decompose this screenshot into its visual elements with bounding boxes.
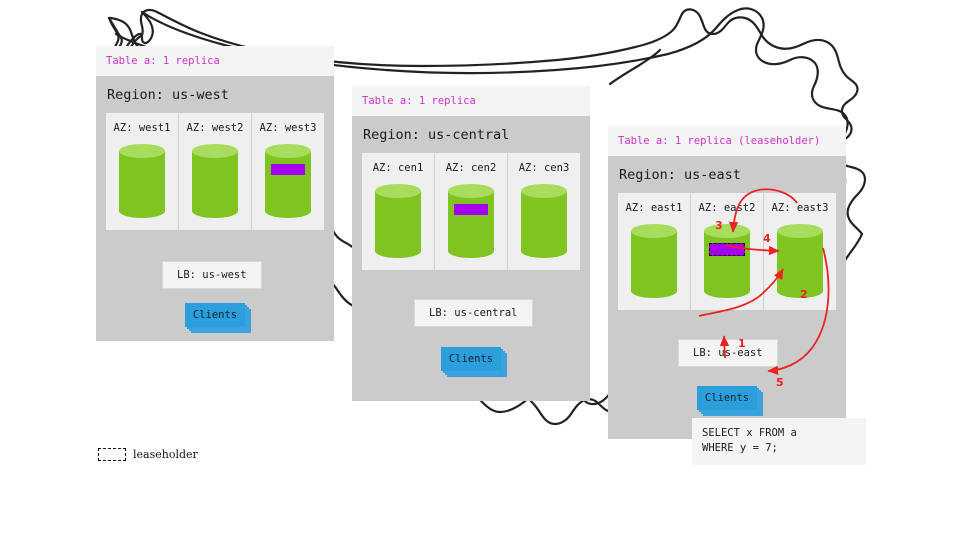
step-number-4: 4 bbox=[763, 232, 771, 245]
replica-marker-west3 bbox=[271, 164, 305, 175]
az-cell-west3[interactable]: AZ: west3 bbox=[252, 113, 324, 230]
cylinder-top bbox=[521, 184, 567, 198]
node-cylinder-west2[interactable] bbox=[192, 144, 238, 218]
cylinder-body bbox=[375, 191, 421, 251]
region-panel-us-east: Table a: 1 replica (leaseholder) Region:… bbox=[608, 126, 846, 439]
clients-label-us-east[interactable]: Clients bbox=[697, 386, 757, 410]
cylinder-top bbox=[777, 224, 823, 238]
node-cylinder-cen1[interactable] bbox=[375, 184, 421, 258]
az-cell-cen2[interactable]: AZ: cen2 bbox=[435, 153, 508, 270]
cylinder-body bbox=[192, 151, 238, 211]
cylinder-top bbox=[192, 144, 238, 158]
az-cell-west1[interactable]: AZ: west1 bbox=[106, 113, 179, 230]
cylinder-top bbox=[119, 144, 165, 158]
az-cell-cen3[interactable]: AZ: cen3 bbox=[508, 153, 580, 270]
az-row-us-central: AZ: cen1 AZ: cen2 bbox=[362, 153, 580, 270]
sql-query-box: SELECT x FROM a WHERE y = 7; bbox=[692, 418, 866, 465]
node-cylinder-east1[interactable] bbox=[631, 224, 677, 298]
lb-box-us-west[interactable]: LB: us-west bbox=[162, 261, 262, 289]
az-label-east2: AZ: east2 bbox=[691, 202, 763, 214]
clients-label-us-central[interactable]: Clients bbox=[441, 347, 501, 371]
clients-stack-us-central[interactable]: Clients bbox=[441, 347, 501, 371]
az-cell-west2[interactable]: AZ: west2 bbox=[179, 113, 252, 230]
step-number-1: 1 bbox=[738, 337, 746, 350]
az-label-west2: AZ: west2 bbox=[179, 122, 251, 134]
panel-header-us-east: Table a: 1 replica (leaseholder) bbox=[608, 126, 846, 156]
az-cell-east1[interactable]: AZ: east1 bbox=[618, 193, 691, 310]
cylinder-body bbox=[265, 151, 311, 211]
node-cylinder-cen3[interactable] bbox=[521, 184, 567, 258]
cylinder-top bbox=[631, 224, 677, 238]
cylinder-top bbox=[265, 144, 311, 158]
az-cell-cen1[interactable]: AZ: cen1 bbox=[362, 153, 435, 270]
step-number-3: 3 bbox=[715, 219, 723, 232]
region-panel-us-central: Table a: 1 replica Region: us-central AZ… bbox=[352, 86, 590, 401]
az-label-east3: AZ: east3 bbox=[764, 202, 836, 214]
region-title-us-west: Region: us-west bbox=[96, 76, 334, 113]
az-label-west3: AZ: west3 bbox=[252, 122, 324, 134]
cylinder-top bbox=[704, 224, 750, 238]
dashed-rectangle-icon bbox=[98, 448, 126, 461]
cylinder-top bbox=[375, 184, 421, 198]
node-cylinder-west3[interactable] bbox=[265, 144, 311, 218]
node-cylinder-cen2[interactable] bbox=[448, 184, 494, 258]
panel-body-us-central: Region: us-central AZ: cen1 AZ: cen2 bbox=[352, 116, 590, 401]
map-lake-detail bbox=[610, 50, 660, 84]
cylinder-top bbox=[448, 184, 494, 198]
diagram-canvas: Table a: 1 replica Region: us-west AZ: w… bbox=[0, 0, 960, 540]
az-label-cen3: AZ: cen3 bbox=[508, 162, 580, 174]
lb-box-us-east[interactable]: LB: us-east bbox=[678, 339, 778, 367]
region-panel-us-west: Table a: 1 replica Region: us-west AZ: w… bbox=[96, 46, 334, 341]
cylinder-body bbox=[704, 231, 750, 291]
panel-header-us-west: Table a: 1 replica bbox=[96, 46, 334, 76]
region-title-us-central: Region: us-central bbox=[352, 116, 590, 153]
az-label-cen2: AZ: cen2 bbox=[435, 162, 507, 174]
step-number-5: 5 bbox=[776, 376, 784, 389]
cylinder-body bbox=[119, 151, 165, 211]
cylinder-body bbox=[777, 231, 823, 291]
leaseholder-replica-marker-east2 bbox=[709, 243, 745, 256]
cylinder-body bbox=[521, 191, 567, 251]
region-title-us-east: Region: us-east bbox=[608, 156, 846, 193]
clients-label-us-west[interactable]: Clients bbox=[185, 303, 245, 327]
az-cell-east2[interactable]: AZ: east2 bbox=[691, 193, 764, 310]
lb-box-us-central[interactable]: LB: us-central bbox=[414, 299, 533, 327]
panel-body-us-west: Region: us-west AZ: west1 AZ: west2 bbox=[96, 76, 334, 341]
az-label-west1: AZ: west1 bbox=[106, 122, 178, 134]
az-row-us-west: AZ: west1 AZ: west2 AZ bbox=[106, 113, 324, 230]
node-cylinder-east3[interactable] bbox=[777, 224, 823, 298]
cylinder-body bbox=[448, 191, 494, 251]
clients-stack-us-west[interactable]: Clients bbox=[185, 303, 245, 327]
panel-body-us-east: Region: us-east AZ: east1 AZ: east2 bbox=[608, 156, 846, 439]
node-cylinder-west1[interactable] bbox=[119, 144, 165, 218]
clients-stack-us-east[interactable]: Clients bbox=[697, 386, 757, 410]
step-number-2: 2 bbox=[800, 288, 808, 301]
panel-header-us-central: Table a: 1 replica bbox=[352, 86, 590, 116]
node-cylinder-east2[interactable] bbox=[704, 224, 750, 298]
az-label-cen1: AZ: cen1 bbox=[362, 162, 434, 174]
replica-marker-cen2 bbox=[454, 204, 488, 215]
legend-label: leaseholder bbox=[133, 448, 198, 461]
az-label-east1: AZ: east1 bbox=[618, 202, 690, 214]
cylinder-body bbox=[631, 231, 677, 291]
legend: leaseholder bbox=[98, 448, 198, 461]
